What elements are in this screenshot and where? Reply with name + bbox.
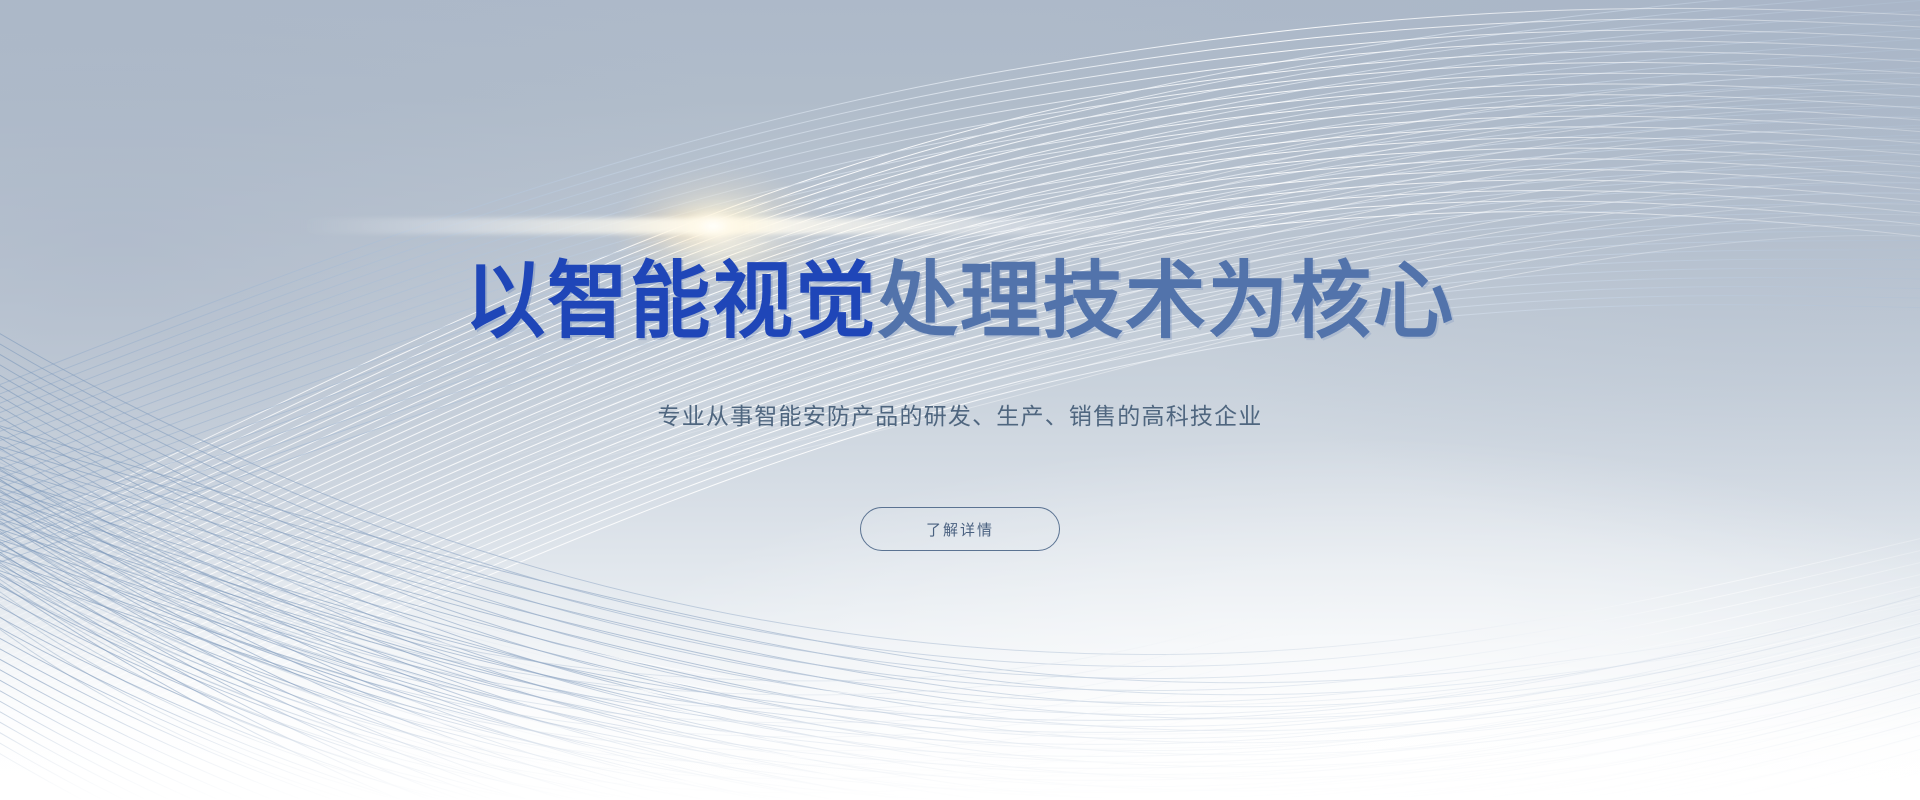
hero-banner: 以智能视觉处理技术为核心 专业从事智能安防产品的研发、生产、销售的高科技企业 了… xyxy=(0,0,1920,800)
learn-more-button[interactable]: 了解详情 xyxy=(860,507,1060,551)
headline-segment-secondary: 处理技术为核心 xyxy=(877,252,1455,350)
hero-cta-wrapper: 了解详情 xyxy=(0,507,1920,551)
hero-content: 以智能视觉处理技术为核心 专业从事智能安防产品的研发、生产、销售的高科技企业 了… xyxy=(0,0,1920,800)
hero-subtitle: 专业从事智能安防产品的研发、生产、销售的高科技企业 xyxy=(0,400,1920,434)
headline-segment-primary: 以智能视觉 xyxy=(465,252,878,350)
hero-headline: 以智能视觉处理技术为核心 xyxy=(38,258,1881,344)
